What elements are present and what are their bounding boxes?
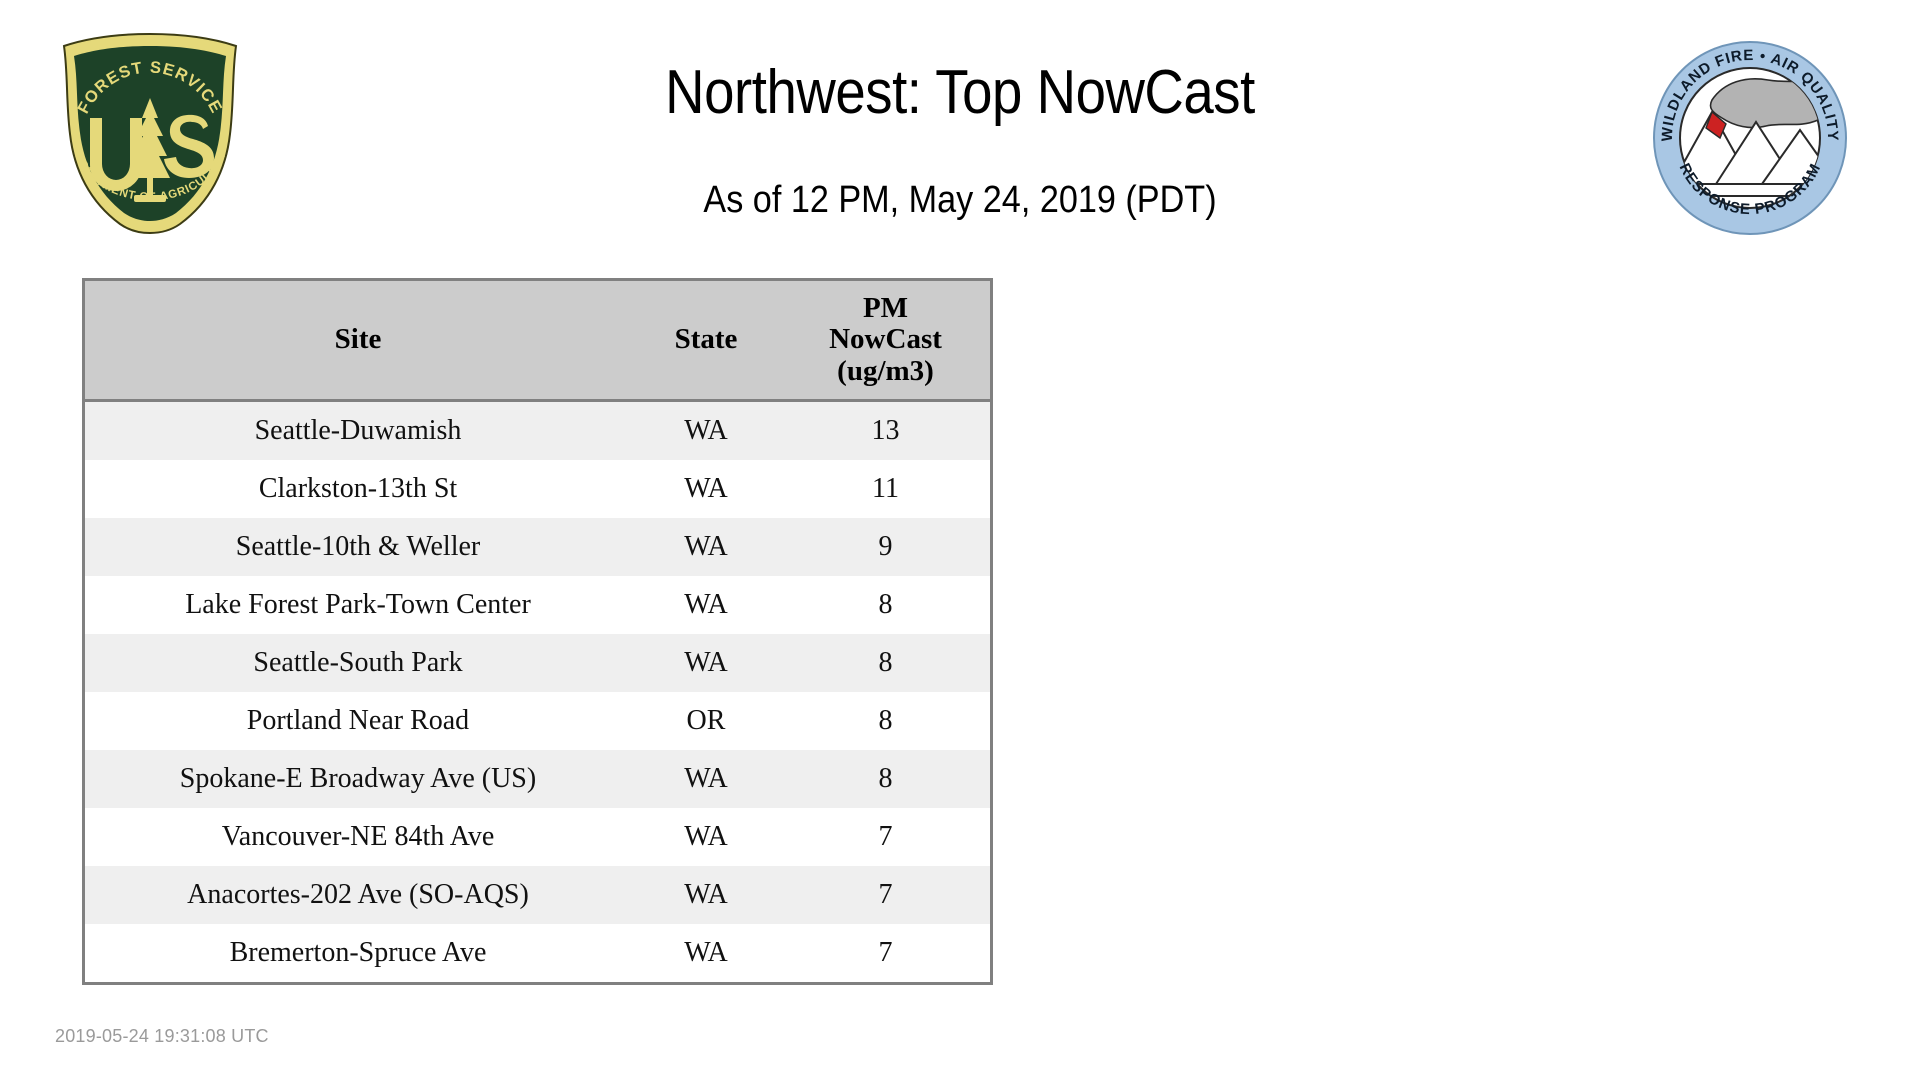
table-row: Portland Near RoadOR8 [85, 692, 990, 750]
cell-value: 11 [781, 460, 990, 518]
cell-site: Lake Forest Park-Town Center [85, 576, 631, 634]
cell-value: 8 [781, 576, 990, 634]
table-row: Clarkston-13th StWA11 [85, 460, 990, 518]
top-nowcast-table: Site State PM NowCast (ug/m3) Seattle-Du… [82, 278, 993, 985]
column-header-pm-nowcast-label: PM NowCast (ug/m3) [781, 293, 990, 387]
cell-state: WA [631, 750, 781, 808]
cell-site: Seattle-South Park [85, 634, 631, 692]
column-header-pm-nowcast: PM NowCast (ug/m3) [781, 281, 990, 401]
table-header-row: Site State PM NowCast (ug/m3) [85, 281, 990, 401]
table-header: Site State PM NowCast (ug/m3) [85, 281, 990, 401]
cell-value: 8 [781, 750, 990, 808]
cell-state: WA [631, 866, 781, 924]
column-header-state: State [631, 281, 781, 401]
cell-value: 7 [781, 924, 990, 982]
cell-site: Portland Near Road [85, 692, 631, 750]
column-header-site: Site [85, 281, 631, 401]
table-row: Bremerton-Spruce AveWA7 [85, 924, 990, 982]
table-row: Lake Forest Park-Town CenterWA8 [85, 576, 990, 634]
cell-site: Seattle-Duwamish [85, 401, 631, 461]
cell-state: WA [631, 634, 781, 692]
cell-site: Clarkston-13th St [85, 460, 631, 518]
cell-state: WA [631, 401, 781, 461]
table-row: Seattle-10th & WellerWA9 [85, 518, 990, 576]
footer-timestamp: 2019-05-24 19:31:08 UTC [55, 1026, 269, 1047]
table-row: Anacortes-202 Ave (SO-AQS)WA7 [85, 866, 990, 924]
column-header-state-label: State [631, 324, 781, 355]
cell-state: WA [631, 808, 781, 866]
cell-state: WA [631, 924, 781, 982]
cell-site: Seattle-10th & Weller [85, 518, 631, 576]
table-body: Seattle-DuwamishWA13Clarkston-13th StWA1… [85, 401, 990, 983]
table-row: Seattle-DuwamishWA13 [85, 401, 990, 461]
table-row: Vancouver-NE 84th AveWA7 [85, 808, 990, 866]
table-row: Spokane-E Broadway Ave (US)WA8 [85, 750, 990, 808]
cell-value: 13 [781, 401, 990, 461]
cell-site: Vancouver-NE 84th Ave [85, 808, 631, 866]
page-title: Northwest: Top NowCast [115, 60, 1805, 125]
cell-value: 8 [781, 692, 990, 750]
cell-site: Spokane-E Broadway Ave (US) [85, 750, 631, 808]
cell-site: Anacortes-202 Ave (SO-AQS) [85, 866, 631, 924]
cell-state: WA [631, 576, 781, 634]
column-header-site-label: Site [85, 324, 631, 355]
cell-state: WA [631, 460, 781, 518]
cell-value: 7 [781, 808, 990, 866]
cell-state: WA [631, 518, 781, 576]
page-subtitle: As of 12 PM, May 24, 2019 (PDT) [96, 180, 1824, 222]
table-row: Seattle-South ParkWA8 [85, 634, 990, 692]
cell-value: 8 [781, 634, 990, 692]
cell-state: OR [631, 692, 781, 750]
cell-site: Bremerton-Spruce Ave [85, 924, 631, 982]
cell-value: 7 [781, 866, 990, 924]
cell-value: 9 [781, 518, 990, 576]
